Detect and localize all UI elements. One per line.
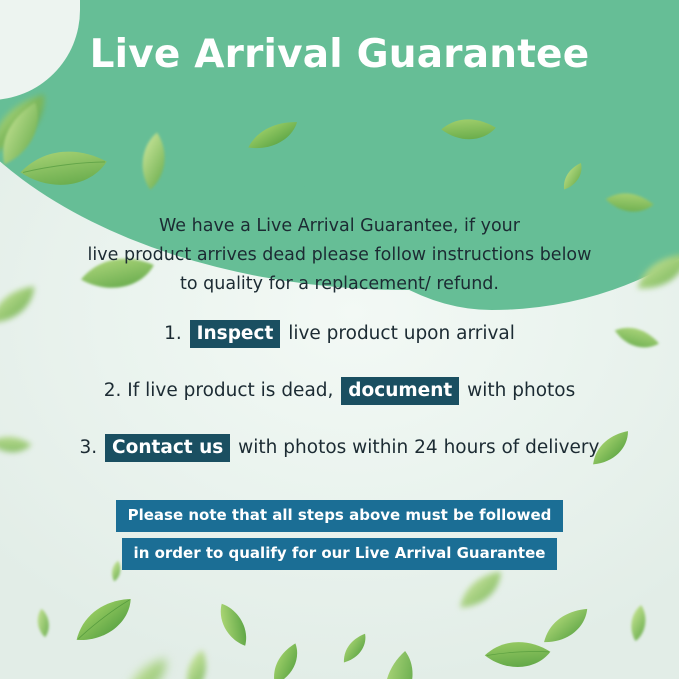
step-highlight-inspect: Inspect: [190, 320, 281, 348]
leaf-icon: [536, 602, 596, 651]
step-text: with photos: [467, 380, 575, 401]
leaf-icon: [631, 247, 679, 298]
notice-line-2: in order to qualify for our Live Arrival…: [122, 538, 558, 570]
leaf-icon: [334, 629, 376, 669]
leaf-icon: [208, 596, 258, 654]
notice-line-1: Please note that all steps above must be…: [116, 500, 564, 532]
list-item: 1. Inspect live product upon arrival: [20, 320, 659, 348]
leaf-icon: [258, 638, 314, 679]
live-arrival-guarantee-poster: Live Arrival Guarantee We have a Live Ar…: [0, 0, 679, 679]
step-highlight-contact-us[interactable]: Contact us: [105, 434, 230, 462]
step-number: 1.: [164, 323, 182, 344]
list-item: 2. If live product is dead, document wit…: [20, 377, 659, 405]
intro-line-1: We have a Live Arrival Guarantee, if you…: [60, 212, 619, 241]
step-highlight-document: document: [341, 377, 459, 405]
intro-line-3: to quality for a replacement/ refund.: [60, 270, 619, 299]
step-text: with photos within 24 hours of delivery: [238, 437, 599, 458]
leaf-icon: [68, 592, 140, 650]
leaf-icon: [32, 607, 53, 639]
leaf-icon: [114, 651, 179, 679]
leaf-icon: [450, 565, 511, 617]
step-number: 2.: [104, 380, 122, 401]
step-text-pre: If live product is dead,: [127, 380, 333, 401]
page-title: Live Arrival Guarantee: [0, 32, 679, 77]
step-text: live product upon arrival: [288, 323, 515, 344]
list-item: 3. Contact us with photos within 24 hour…: [20, 434, 659, 462]
leaf-icon: [174, 645, 218, 679]
intro-paragraph: We have a Live Arrival Guarantee, if you…: [60, 212, 619, 299]
step-number: 3.: [80, 437, 98, 458]
steps-list: 1. Inspect live product upon arrival 2. …: [20, 320, 659, 491]
leaf-icon: [623, 602, 653, 644]
notice-banner: Please note that all steps above must be…: [0, 500, 679, 570]
intro-line-2: live product arrives dead please follow …: [60, 241, 619, 270]
